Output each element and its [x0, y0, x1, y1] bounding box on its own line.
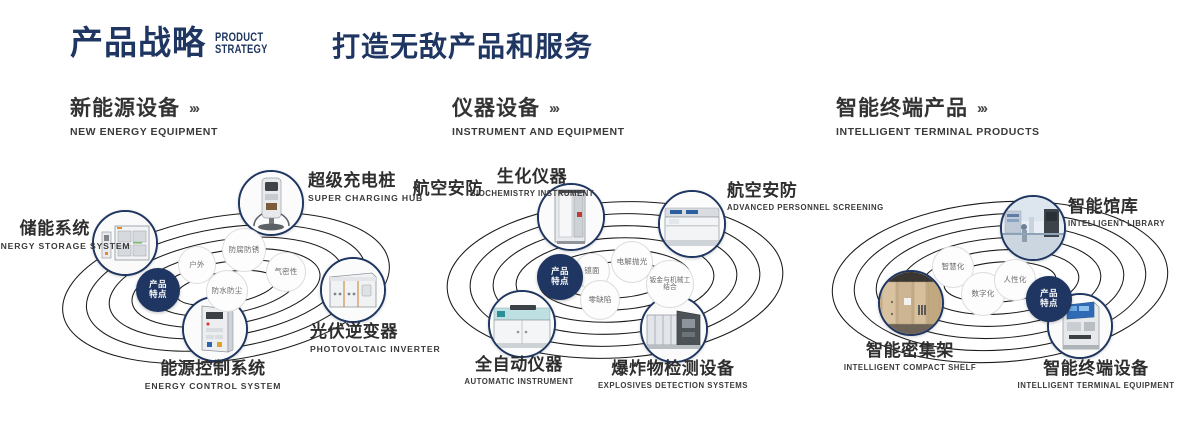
node-automatic-instrument[interactable]	[488, 290, 556, 358]
compact-shelf-icon	[880, 272, 942, 334]
label-en: INTELLIGENT LIBRARY	[1068, 219, 1198, 229]
feature-bubble-text: 智慧化	[941, 263, 964, 271]
feature-bubble-text: 镜面	[584, 267, 599, 275]
section-title-cn-text: 仪器设备	[452, 98, 540, 119]
label-en: BIOCHEMISTRY INSTRUMENT	[467, 189, 597, 199]
label-en: INTELLIGENT COMPACT SHELF	[824, 363, 996, 373]
label-automatic-instrument: 全自动仪器 AUTOMATIC INSTRUMENT	[433, 356, 605, 387]
badge-line2: 特点	[551, 276, 569, 286]
feature-bubble-text: 电解抛光	[617, 258, 648, 266]
label-cn: 能源控制系统	[122, 360, 304, 377]
label-en: ENERGY STORAGE SYSTEM	[0, 241, 90, 252]
label-energy-storage: 储能系统 ENERGY STORAGE SYSTEM	[0, 220, 90, 252]
section-title-new-energy: 新能源设备 ››› NEW ENERGY EQUIPMENT	[70, 98, 218, 138]
node-intelligent-library[interactable]	[1000, 195, 1066, 261]
node-photovoltaic-inverter[interactable]	[320, 257, 386, 323]
section-title-cn-text: 新能源设备	[70, 98, 180, 119]
poster-canvas: 产品战略 PRODUCT STRATEGY 打造无敌产品和服务 新能源设备 ››…	[0, 0, 1200, 422]
feature-bubble[interactable]: 气密性	[266, 252, 306, 292]
label-cn: 生化仪器	[467, 168, 597, 185]
cluster-intelligent-terminal: 智能馆库 INTELLIGENT LIBRARY 智能密集架	[800, 160, 1200, 420]
label-en: AUTOMATIC INSTRUMENT	[433, 377, 605, 387]
badge-line2: 特点	[149, 289, 167, 299]
section-title-cn-text: 智能终端产品	[836, 98, 968, 119]
feature-bubble-text: 钣金与机械工结合	[647, 277, 693, 292]
screening-machine-icon	[660, 192, 724, 256]
feature-bubble-text: 防水防尘	[212, 287, 243, 295]
label-cn: 航空安防	[393, 180, 483, 197]
label-en: INTELLIGENT TERMINAL EQUIPMENT	[996, 381, 1196, 391]
label-aviation-security-left: 航空安防	[393, 180, 483, 197]
feature-bubble-text: 防腐防锈	[229, 246, 260, 254]
section-title-intelligent-terminal: 智能终端产品 ››› INTELLIGENT TERMINAL PRODUCTS	[836, 98, 1040, 138]
label-cn: 储能系统	[0, 220, 90, 237]
library-room-icon	[1002, 197, 1064, 259]
chevron-right-icon: ›››	[189, 101, 198, 116]
poster-title-en-line1: PRODUCT	[215, 32, 268, 44]
section-title-cn: 智能终端产品 ›››	[836, 98, 1040, 119]
chevron-right-icon: ›››	[549, 101, 558, 116]
section-title-cn: 新能源设备 ›››	[70, 98, 218, 119]
section-title-cn: 仪器设备 ›››	[452, 98, 625, 119]
node-advanced-personnel-screening[interactable]	[658, 190, 726, 258]
badge-line2: 特点	[1040, 298, 1058, 308]
product-feature-badge-text: 产品 特点	[149, 280, 167, 299]
badge-line1: 产品	[1040, 288, 1058, 298]
label-en: EXPLOSIVES DETECTION SYSTEMS	[593, 381, 753, 391]
node-super-charging-hub[interactable]	[238, 170, 304, 236]
label-energy-control-system: 能源控制系统 ENERGY CONTROL SYSTEM	[122, 360, 304, 392]
label-intelligent-library: 智能馆库 INTELLIGENT LIBRARY	[1068, 198, 1198, 229]
feature-bubble[interactable]: 钣金与机械工结合	[646, 260, 694, 308]
feature-bubble[interactable]: 防水防尘	[206, 270, 248, 312]
poster-slogan: 打造无敌产品和服务	[332, 33, 593, 61]
node-intelligent-compact-shelf[interactable]	[878, 270, 944, 336]
poster-header: 产品战略 PRODUCT STRATEGY	[70, 26, 279, 59]
feature-bubble[interactable]: 零缺陷	[580, 280, 620, 320]
label-cn: 智能馆库	[1068, 198, 1198, 215]
poster-title-en: PRODUCT STRATEGY	[215, 32, 268, 59]
cluster-instrument: 生化仪器 BIOCHEMISTRY INSTRUMENT 航空安防 航空安防 A…	[415, 160, 815, 420]
label-cn: 爆炸物检测设备	[593, 360, 753, 377]
automatic-analyzer-icon	[490, 292, 554, 356]
label-intelligent-terminal-equipment: 智能终端设备 INTELLIGENT TERMINAL EQUIPMENT	[996, 360, 1196, 391]
label-en: ENERGY CONTROL SYSTEM	[122, 381, 304, 392]
product-feature-badge-text: 产品 特点	[1040, 289, 1058, 308]
label-cn: 全自动仪器	[433, 356, 605, 373]
label-cn: 智能密集架	[824, 342, 996, 359]
feature-bubble-text: 人性化	[1003, 276, 1026, 284]
cluster-new-energy: 储能系统 ENERGY STORAGE SYSTEM 超级充电桩 SUPER C…	[30, 160, 430, 420]
product-feature-badge[interactable]: 产品 特点	[537, 254, 583, 300]
feature-bubble-text: 气密性	[274, 268, 297, 276]
section-title-en: NEW ENERGY EQUIPMENT	[70, 126, 218, 138]
feature-bubble-text: 数字化	[971, 290, 994, 298]
product-feature-badge[interactable]: 产品 特点	[1026, 276, 1072, 322]
product-feature-badge-text: 产品 特点	[551, 267, 569, 286]
poster-title-cn: 产品战略	[70, 26, 206, 59]
inverter-cabinet-icon	[322, 259, 384, 321]
section-title-instrument: 仪器设备 ››› INSTRUMENT AND EQUIPMENT	[452, 98, 625, 138]
chevron-right-icon: ›››	[977, 101, 986, 116]
section-title-en: INSTRUMENT AND EQUIPMENT	[452, 126, 625, 138]
charging-pile-icon	[240, 172, 302, 234]
label-intelligent-compact-shelf: 智能密集架 INTELLIGENT COMPACT SHELF	[824, 342, 996, 373]
badge-line1: 产品	[149, 279, 167, 289]
label-biochemistry-instrument: 生化仪器 BIOCHEMISTRY INSTRUMENT	[467, 168, 597, 199]
feature-bubble[interactable]: 防腐防锈	[222, 228, 266, 272]
feature-bubble-text: 零缺陷	[588, 296, 611, 304]
label-explosives-detection: 爆炸物检测设备 EXPLOSIVES DETECTION SYSTEMS	[593, 360, 753, 391]
feature-bubble-text: 户外	[189, 261, 204, 269]
badge-line1: 产品	[551, 266, 569, 276]
section-title-en: INTELLIGENT TERMINAL PRODUCTS	[836, 126, 1040, 138]
label-cn: 智能终端设备	[996, 360, 1196, 377]
poster-title-en-line2: STRATEGY	[215, 44, 268, 56]
product-feature-badge[interactable]: 产品 特点	[136, 268, 180, 312]
